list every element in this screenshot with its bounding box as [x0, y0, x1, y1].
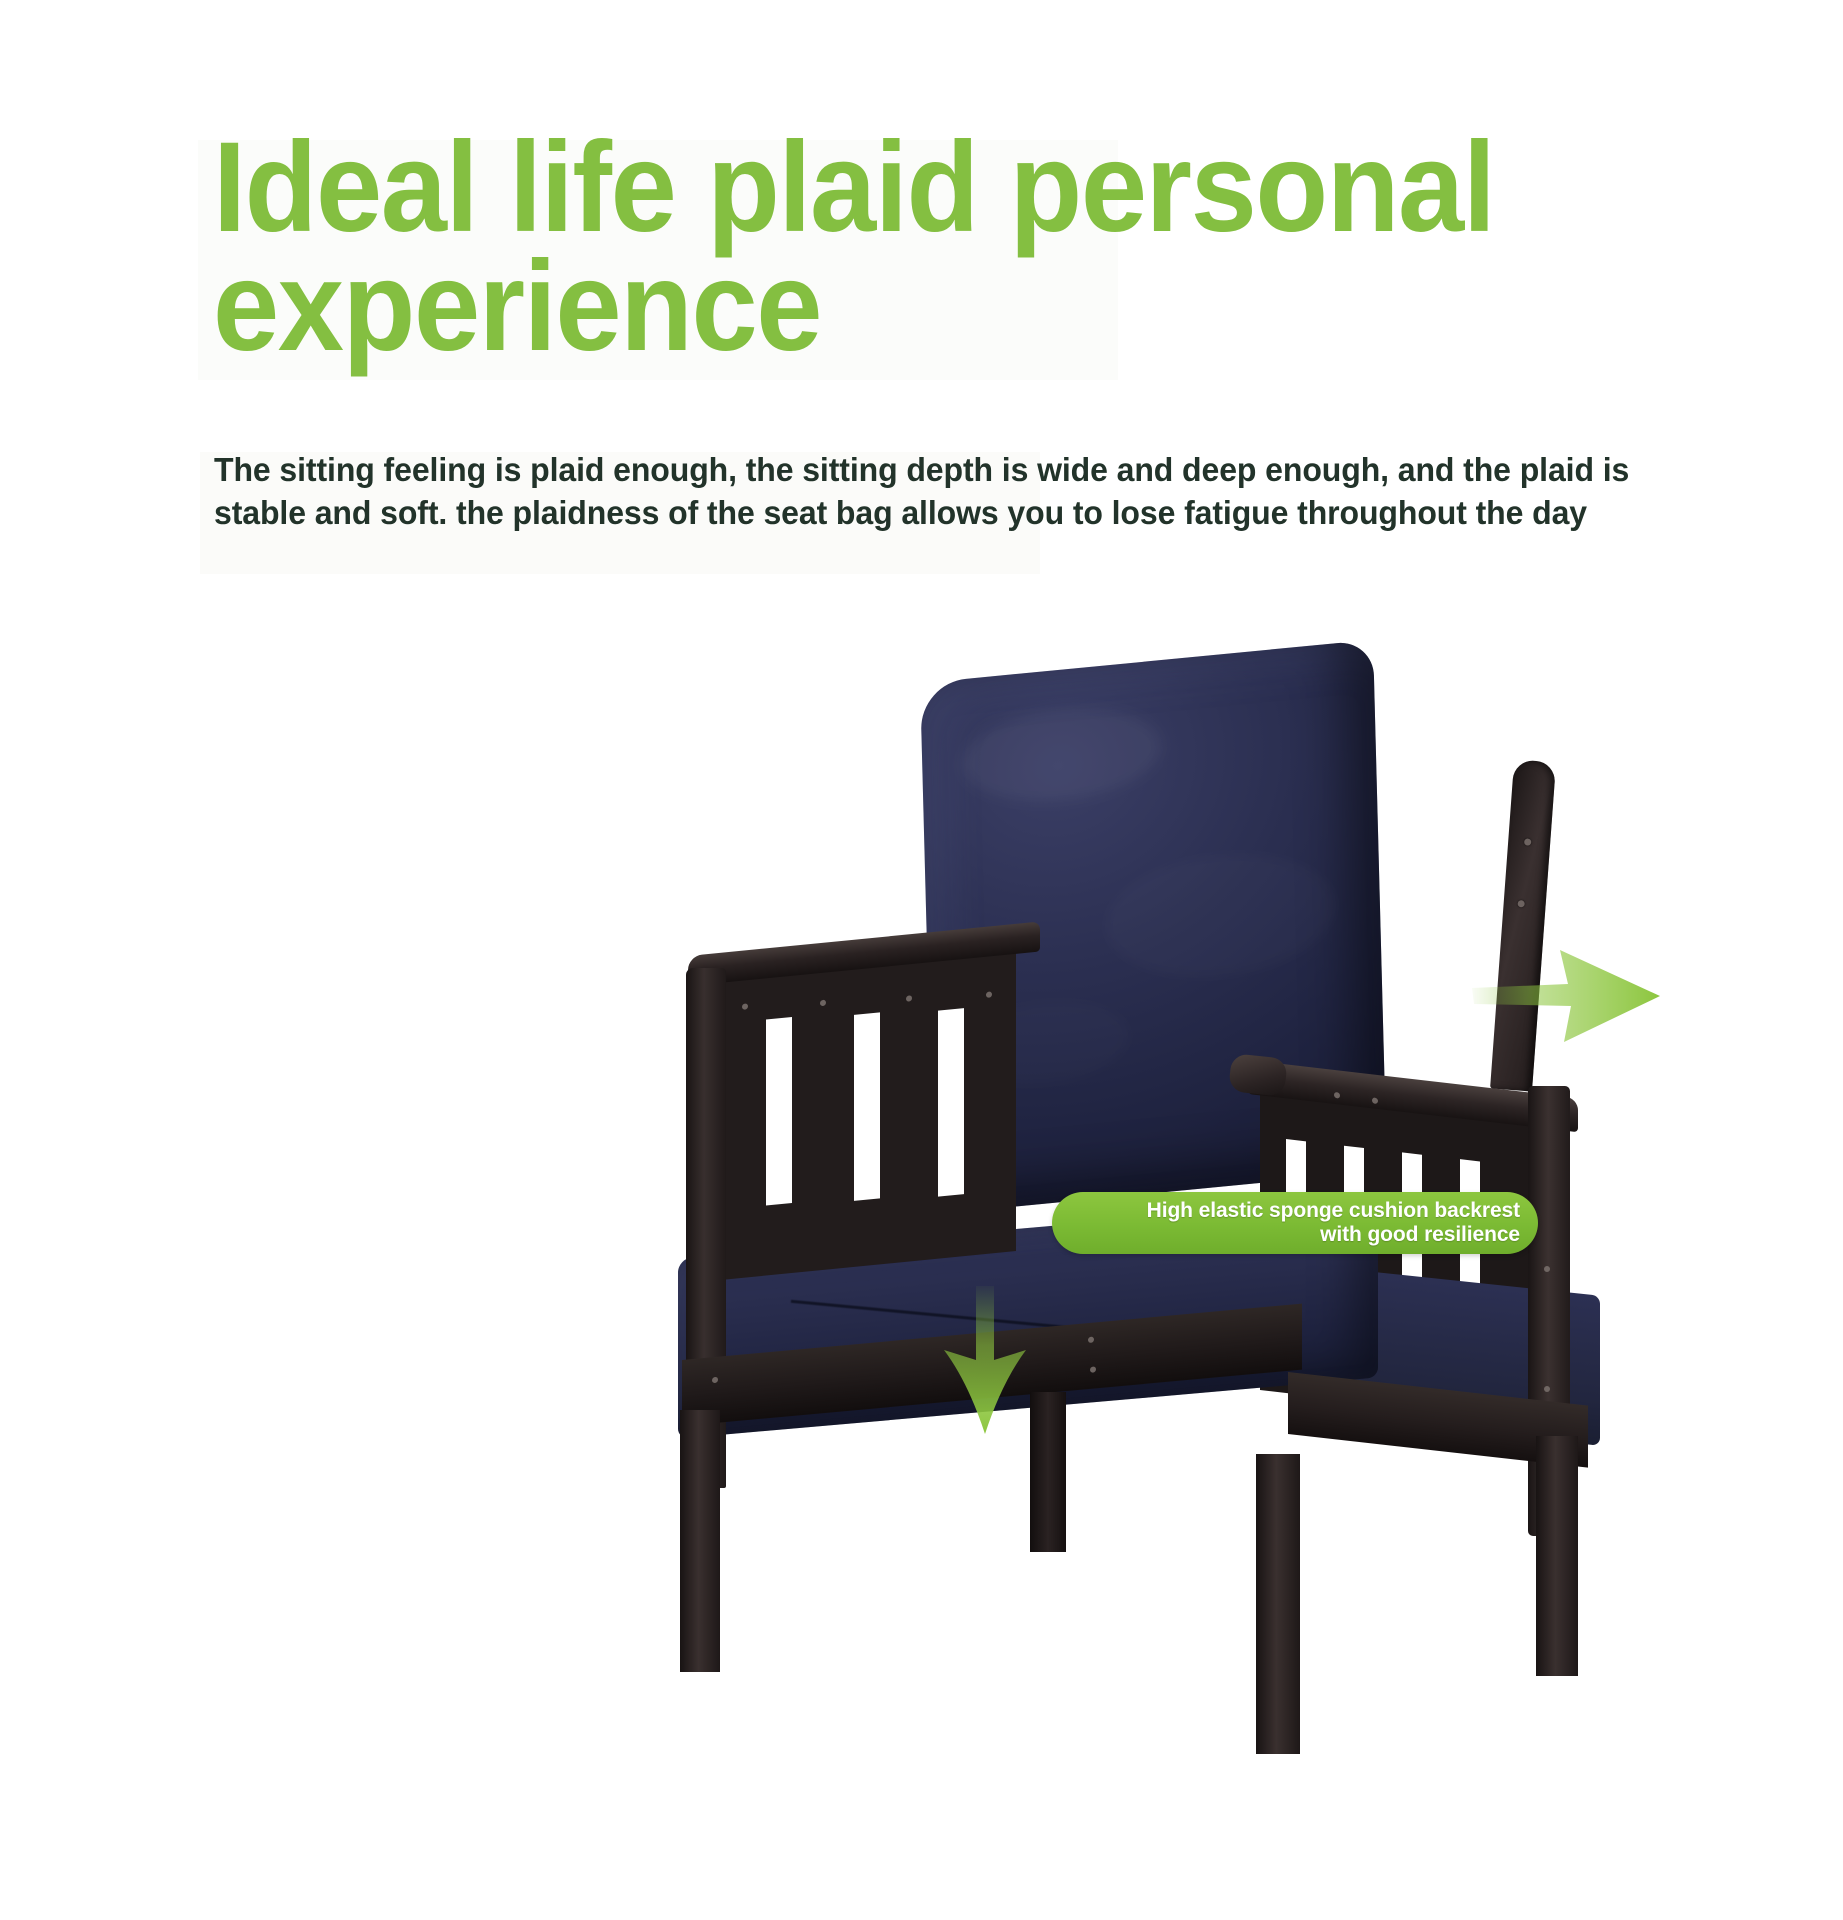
leg-back-right — [1536, 1436, 1578, 1676]
arrow-down-icon — [930, 1286, 1040, 1436]
armrest-right-cap — [1228, 1053, 1288, 1097]
page-title: Ideal life plaid personal experience — [213, 128, 1515, 366]
intro-paragraph: The sitting feeling is plaid enough, the… — [214, 449, 1630, 534]
backrest-callout-label: High elastic sponge cushion backrest wit… — [1120, 1199, 1520, 1246]
side-panel-left — [700, 951, 1016, 1282]
leg-front-left — [680, 1410, 720, 1672]
arrow-right-icon — [1472, 948, 1662, 1044]
backrest-callout[interactable]: High elastic sponge cushion backrest wit… — [1052, 1192, 1538, 1254]
leg-front-right — [1256, 1454, 1300, 1754]
